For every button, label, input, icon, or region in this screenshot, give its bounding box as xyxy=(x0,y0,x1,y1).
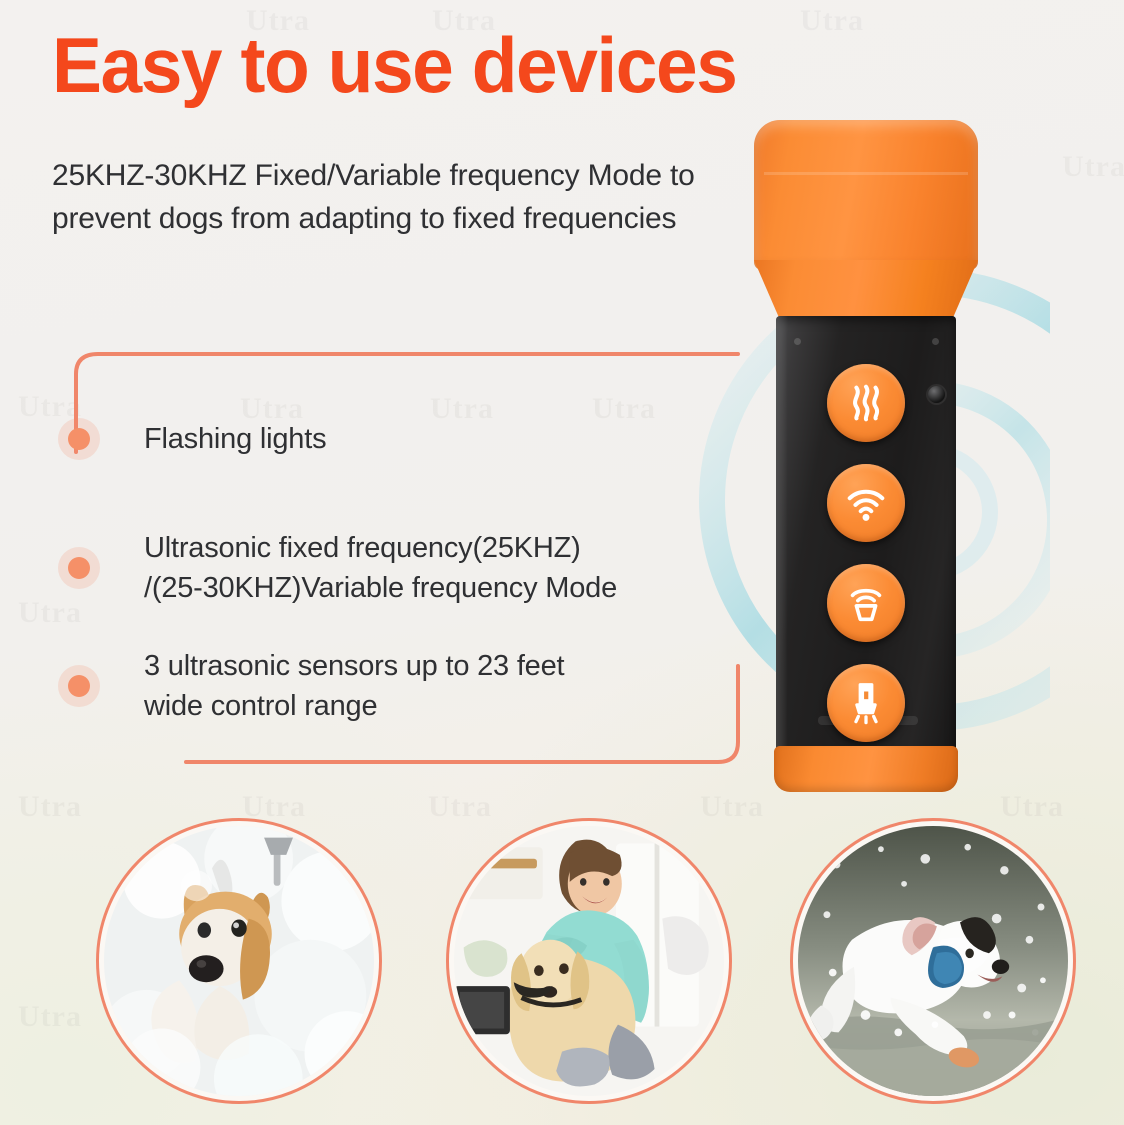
device-button-wave[interactable] xyxy=(827,364,905,442)
dog-running-image xyxy=(798,826,1068,1096)
feature-item-sensor-range: 3 ultrasonic sensors up to 23 feet wide … xyxy=(58,646,564,726)
screw-icon xyxy=(932,338,939,345)
photo-dog-bath: Terrier dog sitting in a bubble bath xyxy=(96,818,382,1104)
watermark: Utra xyxy=(18,1000,82,1034)
heat-wave-icon xyxy=(843,380,889,426)
screw-icon xyxy=(794,338,801,345)
indicator-led xyxy=(928,386,945,403)
device-head xyxy=(754,120,978,270)
feature-item-flashing-lights: Flashing lights xyxy=(58,418,326,460)
infographic-canvas: Utra Utra Utra Utra Utra Utra Utra Utra … xyxy=(0,0,1124,1125)
device-foot xyxy=(774,746,958,792)
watermark: Utra xyxy=(1062,150,1124,184)
feature-label: Ultrasonic fixed frequency(25KHZ) /(25-3… xyxy=(144,528,617,608)
device-body xyxy=(776,316,956,756)
feature-label: Flashing lights xyxy=(144,419,326,459)
flashlight-icon xyxy=(843,680,889,726)
watermark: Utra xyxy=(1000,790,1064,824)
dog-bath-image xyxy=(104,826,374,1096)
feature-item-ultrasonic-frequency: Ultrasonic fixed frequency(25KHZ) /(25-3… xyxy=(58,528,617,608)
product-device xyxy=(748,120,984,800)
watermark: Utra xyxy=(18,790,82,824)
wifi-signal-icon xyxy=(843,480,889,526)
device-neck xyxy=(754,260,978,322)
photo-dog-running: White Jack Russell with blue collar runn… xyxy=(790,818,1076,1104)
intro-paragraph: 25KHZ-30KHZ Fixed/Variable frequency Mod… xyxy=(52,155,722,241)
bullet-dot-icon xyxy=(58,418,100,460)
page-title: Easy to use devices xyxy=(52,26,736,104)
feature-label: 3 ultrasonic sensors up to 23 feet wide … xyxy=(144,646,564,726)
device-button-flashlight[interactable] xyxy=(827,664,905,742)
watermark: Utra xyxy=(800,4,864,38)
device-button-signal[interactable] xyxy=(827,464,905,542)
ultrasonic-emitter-icon xyxy=(843,580,889,626)
bullet-dot-icon xyxy=(58,665,100,707)
photo-girl-dog: Smiling girl in mint sweater hugging a g… xyxy=(446,818,732,1104)
device-button-ultrasonic[interactable] xyxy=(827,564,905,642)
girl-dog-image xyxy=(454,826,724,1096)
watermark: Utra xyxy=(428,790,492,824)
bullet-dot-icon xyxy=(58,547,100,589)
